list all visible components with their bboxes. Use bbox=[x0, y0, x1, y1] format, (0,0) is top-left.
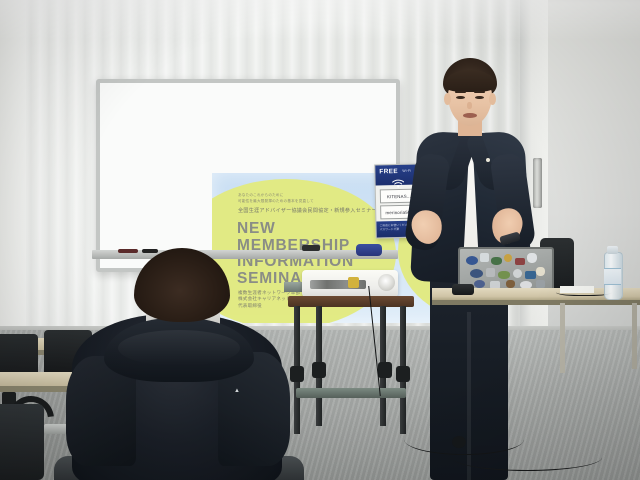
bottle-label bbox=[604, 268, 621, 285]
cart-clamp bbox=[378, 362, 392, 378]
ceiling-light-gradient bbox=[0, 0, 640, 40]
presenter-mouth bbox=[463, 113, 477, 118]
cart-clamp bbox=[312, 362, 326, 378]
jacket-logo: ▲ bbox=[234, 388, 252, 400]
marker-dark[interactable] bbox=[302, 245, 320, 251]
right-desk-edge bbox=[432, 300, 640, 305]
presenter-nose bbox=[467, 102, 472, 109]
seated-attendee: ▲ bbox=[58, 248, 294, 480]
laptop-sticker bbox=[525, 271, 536, 279]
whiteboard-eraser[interactable] bbox=[356, 244, 382, 256]
presenter-ear-right bbox=[489, 93, 496, 105]
laptop-sticker bbox=[486, 268, 495, 277]
presenter-hair-fringe bbox=[444, 70, 496, 92]
whiteboard: あなたのこれからのために 可能性を最大限発揮のための基本を見直して 全国生涯アド… bbox=[96, 79, 400, 272]
laptop-sticker bbox=[466, 256, 478, 265]
attendee-hair bbox=[134, 248, 230, 322]
laptop-sticker bbox=[536, 267, 545, 276]
wifi-free-label: FREE bbox=[379, 167, 398, 174]
laptop-sticker bbox=[480, 253, 489, 262]
microphone[interactable] bbox=[452, 436, 466, 448]
bottle-cap bbox=[607, 246, 618, 254]
laptop-sticker bbox=[491, 257, 502, 265]
laptop-sticker bbox=[506, 280, 515, 288]
laptop-sticker bbox=[470, 269, 483, 278]
presenter-lapel-pin bbox=[486, 158, 490, 162]
foreground-chair-front[interactable] bbox=[0, 404, 44, 480]
photo-scene: あなたのこれからのために 可能性を最大限発揮のための基本を見直して 全国生涯アド… bbox=[0, 0, 640, 480]
laptop-sticker bbox=[527, 253, 537, 263]
attendee-hood-highlight bbox=[118, 330, 240, 366]
laptop-sticker bbox=[515, 258, 525, 265]
laptop-sticker bbox=[513, 269, 522, 278]
floor-cable-two bbox=[452, 444, 602, 471]
laptop-sticker bbox=[504, 254, 512, 262]
right-desk-leg bbox=[560, 303, 565, 373]
projector-lens bbox=[378, 274, 395, 291]
cart-clamp bbox=[396, 366, 410, 382]
laptop-sticker bbox=[536, 280, 545, 288]
laptop-sticker bbox=[474, 280, 485, 288]
left-wall bbox=[0, 0, 26, 360]
laptop-sticker bbox=[498, 271, 510, 279]
remote-control[interactable] bbox=[452, 284, 474, 295]
right-desk-leg bbox=[632, 303, 637, 369]
presenter-ear-left bbox=[444, 93, 451, 105]
